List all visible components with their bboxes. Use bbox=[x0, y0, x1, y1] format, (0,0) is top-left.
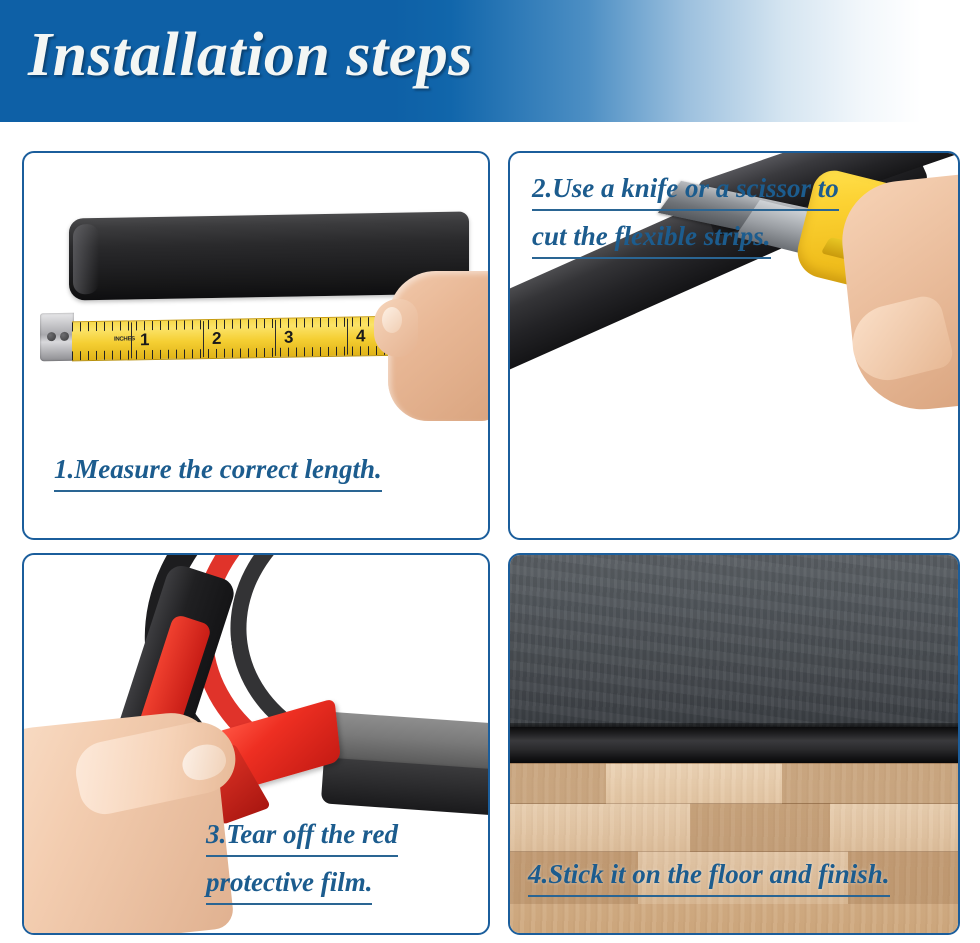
step-card-3: 3.Tear off the red protective film. bbox=[22, 553, 490, 935]
tape-hook-rivet bbox=[60, 332, 69, 341]
step-caption-4: 4.Stick it on the floor and finish. bbox=[528, 855, 890, 903]
floor-plank bbox=[830, 803, 958, 852]
installed-trim-strip bbox=[510, 727, 958, 763]
tape-number: 3 bbox=[284, 328, 293, 348]
floor-plank bbox=[782, 763, 958, 804]
caption-line: 1.Measure the correct length. bbox=[54, 450, 382, 492]
caption-line: 4.Stick it on the floor and finish. bbox=[528, 855, 890, 897]
step-caption-2: 2.Use a knife or a scissor to cut the fl… bbox=[532, 169, 839, 265]
caption-line: 3.Tear off the red bbox=[206, 815, 398, 857]
header-banner: Installation steps bbox=[0, 0, 980, 122]
page-title: Installation steps bbox=[28, 20, 473, 91]
tape-hook-icon bbox=[40, 313, 74, 362]
tape-number: 1 bbox=[140, 330, 149, 350]
caption-line: 2.Use a knife or a scissor to bbox=[532, 169, 839, 211]
floor-plank bbox=[510, 763, 606, 804]
tape-number: 2 bbox=[212, 329, 221, 349]
step-caption-3: 3.Tear off the red protective film. bbox=[206, 815, 398, 911]
hand-shape bbox=[388, 271, 490, 421]
step-card-1: INCHES 1 2 3 4 5 1.Measure the correct l… bbox=[22, 151, 490, 540]
wall-surface bbox=[510, 555, 958, 727]
caption-line: cut the flexible strips. bbox=[532, 217, 771, 259]
floor-plank bbox=[510, 803, 690, 852]
tape-number: 4 bbox=[356, 326, 365, 346]
wood-floor-surface bbox=[510, 763, 958, 933]
caption-line: protective film. bbox=[206, 863, 372, 905]
steps-grid: INCHES 1 2 3 4 5 1.Measure the correct l… bbox=[22, 151, 960, 935]
hand-shape bbox=[836, 172, 958, 416]
step-card-4: 4.Stick it on the floor and finish. bbox=[508, 553, 960, 935]
step-card-2: 2.Use a knife or a scissor to cut the fl… bbox=[508, 151, 960, 540]
tape-unit-label: INCHES bbox=[114, 336, 135, 342]
floor-plank bbox=[606, 763, 782, 804]
step-caption-1: 1.Measure the correct length. bbox=[54, 450, 382, 498]
floor-plank bbox=[690, 803, 830, 852]
tape-hook-rivet bbox=[47, 332, 56, 341]
